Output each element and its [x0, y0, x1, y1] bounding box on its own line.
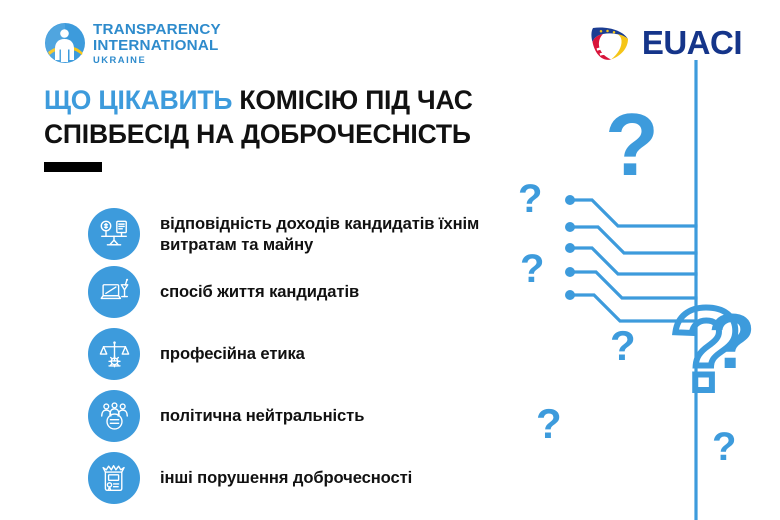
criteria-list: відповідність доходів кандидатів їхнім в… — [88, 208, 508, 514]
euaci-wordmark: EUACI — [642, 24, 742, 62]
question-mark-large-top: ? — [605, 95, 659, 194]
euaci-emblem-icon — [587, 22, 633, 64]
laptop-cocktail-lifestyle-icon — [88, 266, 140, 318]
question-mark-small-5: ? — [712, 425, 736, 469]
list-item: спосіб життя кандидатів — [88, 266, 508, 318]
circuit-nodes — [565, 195, 575, 300]
infographic-canvas: TRANSPARENCY INTERNATIONAL UKRAINE EUACI… — [0, 0, 780, 520]
scales-gear-ethics-icon — [88, 328, 140, 380]
list-item: інші порушення доброчесності — [88, 452, 508, 504]
ti-wordmark-line2: INTERNATIONAL — [93, 38, 221, 53]
list-item: професійна етика — [88, 328, 508, 380]
transparency-international-logo: TRANSPARENCY INTERNATIONAL UKRAINE — [44, 22, 221, 65]
document-seal-violation-icon — [88, 452, 140, 504]
ti-wordmark-line1: TRANSPARENCY — [93, 22, 221, 37]
question-mark-small-3: ? — [610, 322, 636, 369]
transparency-international-emblem-icon — [44, 22, 86, 64]
list-item-label: професійна етика — [160, 343, 305, 364]
scales-money-document-icon — [88, 208, 140, 260]
question-mark-large-outline: ? — [670, 284, 742, 416]
title-accent-text: ЩО ЦІКАВИТЬ — [44, 85, 232, 115]
page-title: ЩО ЦІКАВИТЬ КОМІСІЮ ПІД ЧАС — [44, 84, 524, 118]
list-item-label: інші порушення доброчесності — [160, 467, 412, 488]
list-item-label: відповідність доходів кандидатів їхнім в… — [160, 213, 508, 255]
question-marks-circuit-graphic: ? ? ? ? ? ? ? ? — [500, 60, 780, 520]
title-line1-rest: КОМІСІЮ ПІД ЧАС — [232, 85, 472, 115]
title-block: ЩО ЦІКАВИТЬ КОМІСІЮ ПІД ЧАС СПІВБЕСІД НА… — [44, 84, 524, 172]
transparency-international-wordmark: TRANSPARENCY INTERNATIONAL UKRAINE — [93, 22, 221, 65]
question-mark-small-2: ? — [520, 247, 544, 291]
list-item: відповідність доходів кандидатів їхнім в… — [88, 208, 508, 260]
question-mark-small-4: ? — [536, 400, 562, 447]
people-equality-icon — [88, 390, 140, 442]
ti-wordmark-line3: UKRAINE — [93, 55, 221, 64]
list-item-label: політична нейтральність — [160, 405, 364, 426]
list-item: політична нейтральність — [88, 390, 508, 442]
page-title-line2: СПІВБЕСІД НА ДОБРОЧЕСНІСТЬ — [44, 118, 524, 152]
euaci-logo: EUACI — [587, 22, 742, 64]
title-underline-bar — [44, 162, 102, 172]
list-item-label: спосіб життя кандидатів — [160, 281, 359, 302]
question-mark-small-1: ? — [518, 177, 542, 221]
